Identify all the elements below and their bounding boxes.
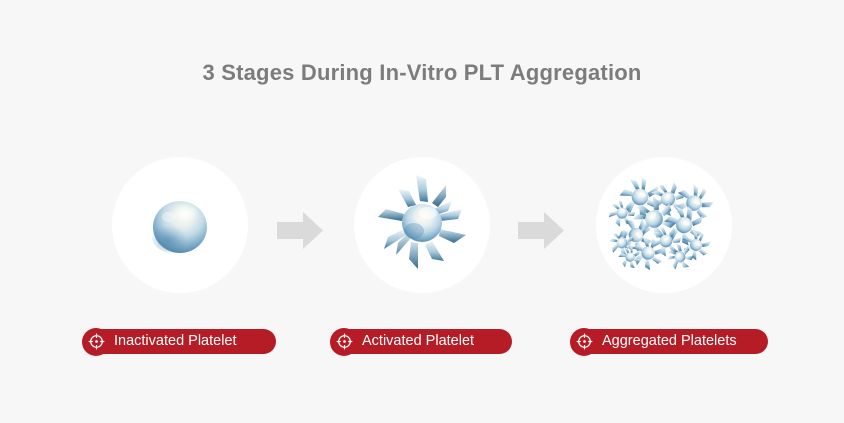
crosshair-icon bbox=[82, 328, 110, 356]
status-badge-label: Activated Platelet bbox=[362, 334, 474, 349]
status-badge-aggregated[interactable]: Aggregated Platelets bbox=[572, 329, 768, 354]
crosshair-icon bbox=[570, 328, 598, 356]
arrow-right-icon bbox=[518, 212, 564, 249]
stage-inactivated bbox=[90, 0, 270, 423]
status-badge-label: Aggregated Platelets bbox=[602, 334, 737, 349]
infographic-canvas: 3 Stages During In-Vitro PLT Aggregation bbox=[0, 0, 844, 423]
status-badge-activated[interactable]: Activated Platelet bbox=[332, 329, 512, 354]
status-badge-inactivated[interactable]: Inactivated Platelet bbox=[84, 329, 276, 354]
status-badge-label: Inactivated Platelet bbox=[114, 334, 237, 349]
arrow-right-icon bbox=[277, 212, 323, 249]
stage-activated bbox=[332, 0, 512, 423]
stage-aggregated bbox=[574, 0, 754, 423]
platelet-cluster-icon bbox=[596, 157, 732, 293]
smooth-round-platelet-icon bbox=[112, 157, 248, 293]
crosshair-icon bbox=[330, 328, 358, 356]
spiky-platelet-icon bbox=[354, 157, 490, 293]
